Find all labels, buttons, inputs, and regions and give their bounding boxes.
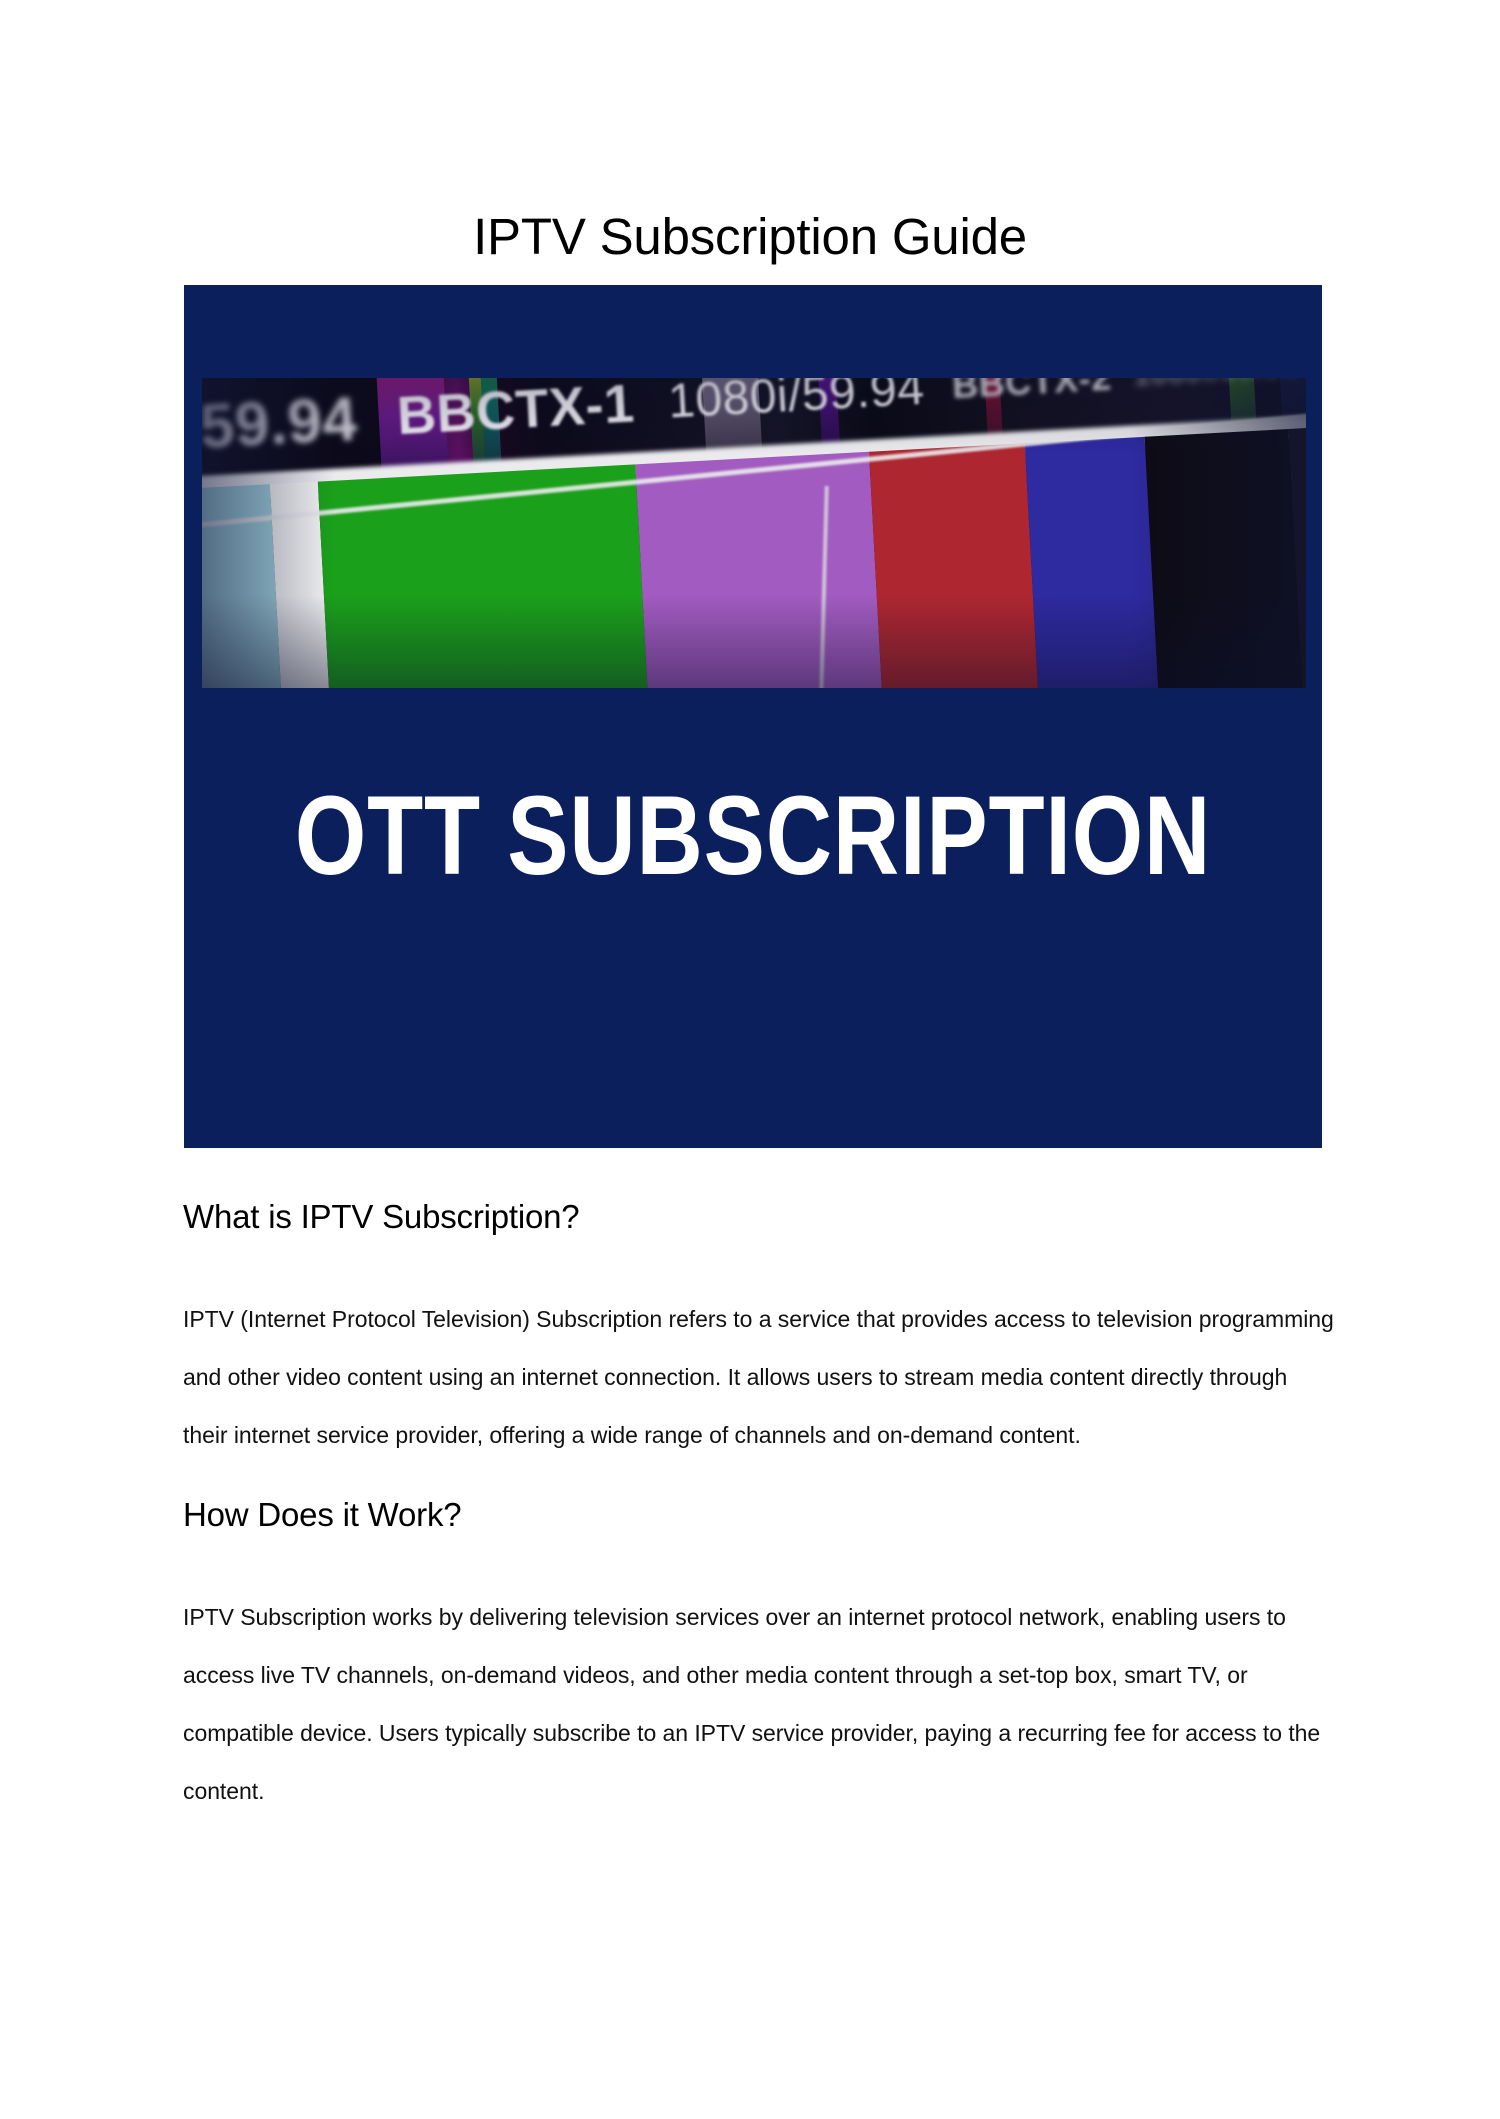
overlay-label-format-2: 1080i/59.94 [1133, 378, 1299, 393]
overlay-label-framerate-left: /59.94 [202, 383, 359, 463]
section-paragraph-how-does-it-work: IPTV Subscription works by delivering te… [183, 1588, 1338, 1820]
spacer [183, 1464, 1338, 1494]
color-bar-purple [635, 452, 883, 688]
color-bar-black [1145, 429, 1303, 688]
section-heading-what-is-iptv-subscription: What is IPTV Subscription? [183, 1196, 1338, 1238]
page-title: IPTV Subscription Guide [0, 206, 1500, 268]
hero-image-banner: /59.94 BBCTX-1 1080i/59.94 BBCTX-2 1080i… [184, 285, 1322, 1148]
tv-test-pattern-photo: /59.94 BBCTX-1 1080i/59.94 BBCTX-2 1080i… [202, 378, 1306, 688]
overlay-label-format-1: 1080i/59.94 [667, 378, 926, 429]
document-page: IPTV Subscription Guide /59.94 BBCTX-1 1… [0, 0, 1500, 2119]
spacer [183, 1238, 1338, 1290]
color-bar-red [869, 443, 1039, 688]
section-paragraph-what-is-iptv-subscription: IPTV (Internet Protocol Television) Subs… [183, 1290, 1338, 1464]
color-bar-blue [1025, 437, 1159, 688]
hero-wordmark: OTT SUBSCRIPTION [286, 780, 1219, 892]
overlay-label-channel-2: BBCTX-2 [951, 378, 1113, 407]
section-heading-how-does-it-work: How Does it Work? [183, 1494, 1338, 1536]
document-body: What is IPTV Subscription? IPTV (Interne… [183, 1196, 1338, 1820]
spacer [183, 1536, 1338, 1588]
overlay-label-channel-1: BBCTX-1 [395, 378, 636, 447]
